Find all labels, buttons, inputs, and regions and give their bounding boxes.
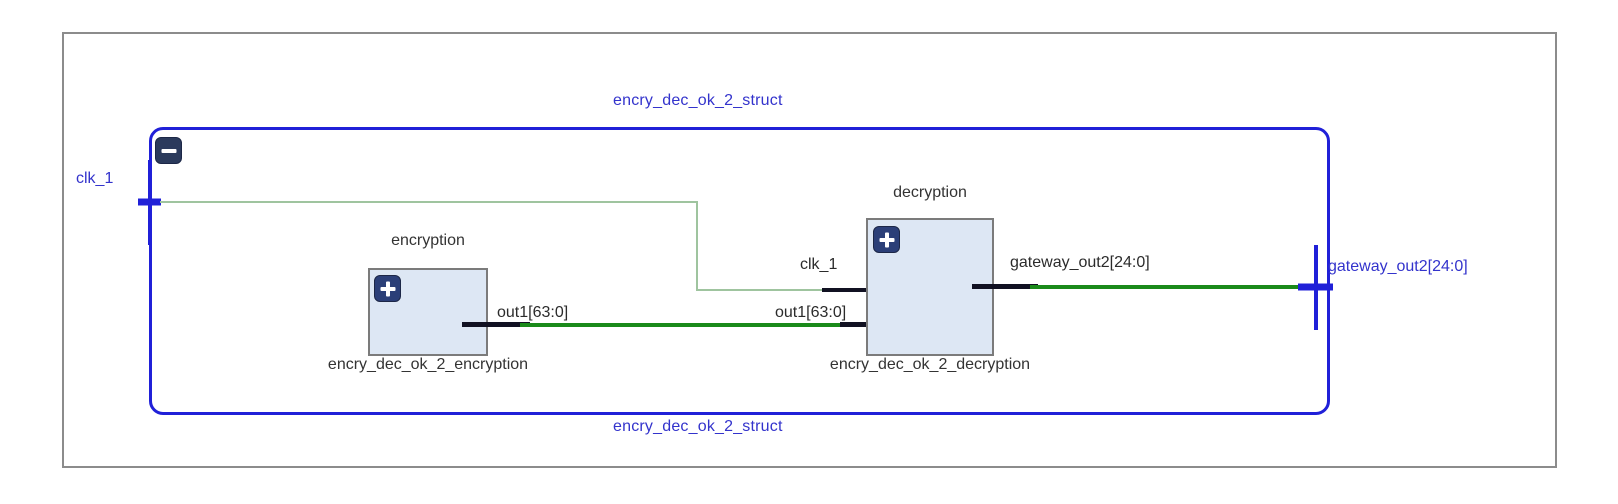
wire-clk-1-segment-h1	[160, 201, 697, 203]
block-title-decryption: decryption	[893, 184, 967, 202]
plus-bar-v	[386, 281, 390, 296]
port-marker-horizontal	[1298, 284, 1333, 291]
plus-icon[interactable]	[374, 275, 401, 302]
struct-label-top: encry_dec_ok_2_struct	[613, 92, 783, 110]
block-title-encryption: encryption	[391, 232, 465, 250]
pin-stub-decryption-gateway-out2	[972, 284, 1038, 289]
minus-bar	[161, 149, 176, 153]
wire-out1-bus	[520, 323, 850, 327]
port-label-gateway-out2: gateway_out2[24:0]	[1328, 258, 1468, 276]
struct-label-bottom: encry_dec_ok_2_struct	[613, 418, 783, 436]
pin-stub-decryption-clk	[822, 288, 870, 292]
block-instance-name-encryption: encry_dec_ok_2_encryption	[328, 356, 528, 374]
wire-clk-1-segment-h2	[696, 289, 826, 291]
port-marker-clk-1[interactable]	[138, 160, 161, 245]
net-label-out1-sink: out1[63:0]	[775, 304, 846, 322]
block-instance-name-decryption: encry_dec_ok_2_decryption	[830, 356, 1030, 374]
plus-bar-v	[885, 232, 889, 247]
plus-icon[interactable]	[873, 226, 900, 253]
port-label-clk-1: clk_1	[76, 170, 113, 188]
schematic-canvas: encry_dec_ok_2_struct clk_1 encryption e…	[0, 0, 1618, 504]
net-label-decryption-clk: clk_1	[800, 256, 837, 274]
wire-gateway-out2-bus	[1030, 285, 1310, 289]
net-label-gateway-out2: gateway_out2[24:0]	[1010, 254, 1150, 272]
struct-boundary-box[interactable]	[149, 127, 1330, 415]
net-label-out1-source: out1[63:0]	[497, 304, 568, 322]
wire-clk-1-segment-v	[696, 201, 698, 291]
port-marker-horizontal	[138, 199, 161, 206]
